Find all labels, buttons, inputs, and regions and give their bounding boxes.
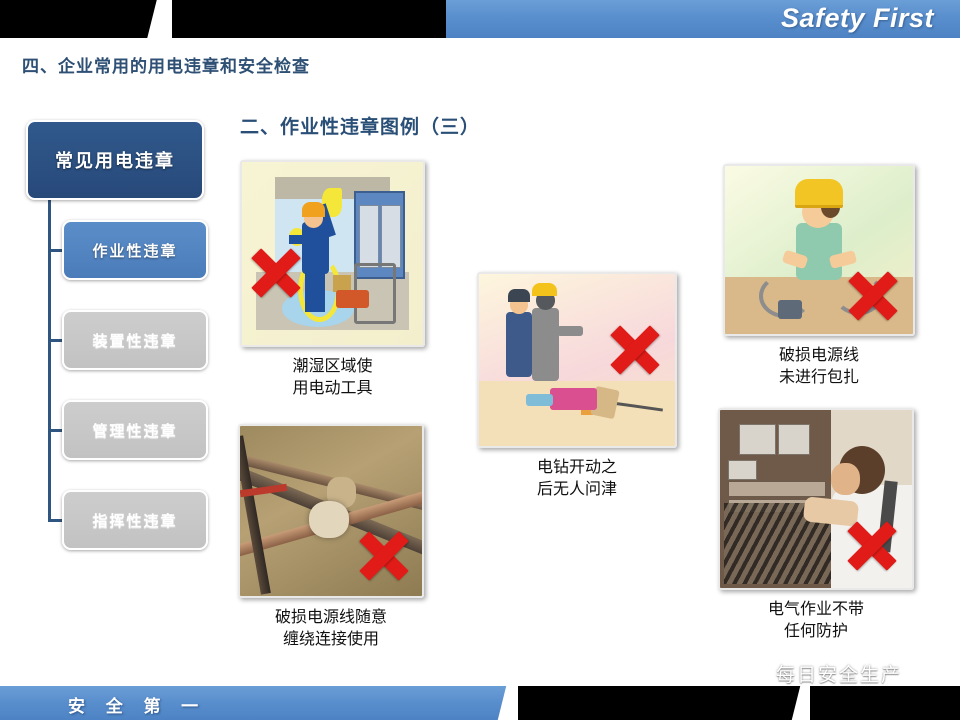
figure-caption: 潮湿区域使 用电动工具: [240, 356, 425, 399]
worker-gray-helmet-shape: [532, 283, 557, 297]
header-blue-banner: Safety First: [446, 0, 960, 38]
cable-joint-shape: [309, 501, 349, 538]
page-header: Safety First: [0, 0, 960, 38]
sidebar-item-equipment-violation[interactable]: 装置性违章: [62, 310, 208, 370]
sidebar-item-management-violation[interactable]: 管理性违章: [62, 400, 208, 460]
worker-arm-side-shape: [289, 235, 309, 244]
sidebar-item-label: 指挥性违章: [92, 510, 177, 531]
page-title: 四、企业常用的用电违章和安全检查: [22, 52, 310, 77]
power-plug-shape: [778, 300, 802, 318]
brand-title: Safety First: [781, 3, 934, 34]
power-tool-shape: [336, 290, 369, 308]
electric-drill-body-shape: [550, 388, 597, 410]
header-black-block-right: [172, 0, 448, 38]
drill-bit-shape: [526, 394, 553, 406]
panel-module-2: [778, 424, 811, 454]
sidebar-item-label: 常见用电违章: [55, 147, 175, 173]
figure-caption: 电气作业不带 任何防护: [718, 599, 914, 642]
worker-face-shape: [831, 463, 860, 495]
sidebar-item-label: 装置性违章: [92, 330, 177, 351]
footer-black-block-left: [518, 686, 802, 720]
figure-electrical-work-no-protection: 电气作业不带 任何防护: [718, 408, 914, 642]
figure-image: [238, 424, 424, 598]
figure-damaged-cord-not-wrapped: 破损电源线 未进行包扎: [723, 164, 915, 388]
panel-module-1: [739, 424, 776, 454]
footer-slogan: 安 全 第 一: [68, 692, 206, 717]
worker-blue-body-shape: [506, 312, 531, 377]
terminal-row-1: [728, 481, 826, 497]
figure-caption: 破损电源线 未进行包扎: [723, 345, 915, 388]
cabinet-door-left: [359, 205, 379, 268]
red-x-icon: [358, 530, 410, 582]
figure-image: [477, 272, 677, 448]
sidebar-item-label: 作业性违章: [92, 240, 177, 261]
worker-gray-body-shape: [532, 308, 559, 380]
red-x-icon: [847, 270, 899, 322]
sidebar-item-label: 管理性违章: [92, 420, 177, 441]
sidebar-item-root[interactable]: 常见用电违章: [26, 120, 204, 200]
panel-module-3: [728, 460, 757, 480]
figure-damaged-cord-twisted: 破损电源线随意 缠绕连接使用: [238, 424, 424, 650]
red-x-icon: [609, 324, 661, 376]
watermark: 每日安全生产: [735, 660, 902, 687]
worker-helmet-shape: [795, 179, 844, 207]
wechat-icon: [735, 663, 769, 685]
figure-wet-area-power-tool: 潮湿区域使 用电动工具: [240, 160, 425, 399]
figure-drill-left-unattended: 电钻开动之 后无人问津: [477, 272, 677, 500]
worker-gray-arm-shape: [557, 326, 582, 336]
figure-image: [240, 160, 425, 347]
cabinet-door-right: [381, 205, 401, 268]
footer-black-block-right: [810, 686, 960, 720]
sidebar-item-command-violation[interactable]: 指挥性违章: [62, 490, 208, 550]
sidebar-tree: 常见用电违章 作业性违章 装置性违章 管理性违章 指挥性违章: [22, 120, 222, 560]
section-heading: 二、作业性违章图例（三）: [240, 112, 480, 139]
header-black-block-left: [0, 0, 160, 38]
figure-image: [718, 408, 914, 590]
page-footer: 安 全 第 一: [0, 686, 960, 720]
red-x-icon: [846, 520, 898, 572]
figure-caption: 破损电源线随意 缠绕连接使用: [238, 607, 424, 650]
worker-blue-cap-shape: [508, 289, 530, 301]
red-x-icon: [250, 247, 302, 299]
watermark-text: 每日安全生产: [776, 660, 902, 687]
worker-body-shape: [796, 223, 841, 280]
worker-legs-shape: [305, 268, 325, 312]
figure-caption: 电钻开动之 后无人问津: [477, 457, 677, 500]
figure-image: [723, 164, 915, 336]
worker-helmet-shape: [302, 202, 326, 217]
sidebar-item-operational-violation[interactable]: 作业性违章: [62, 220, 208, 280]
